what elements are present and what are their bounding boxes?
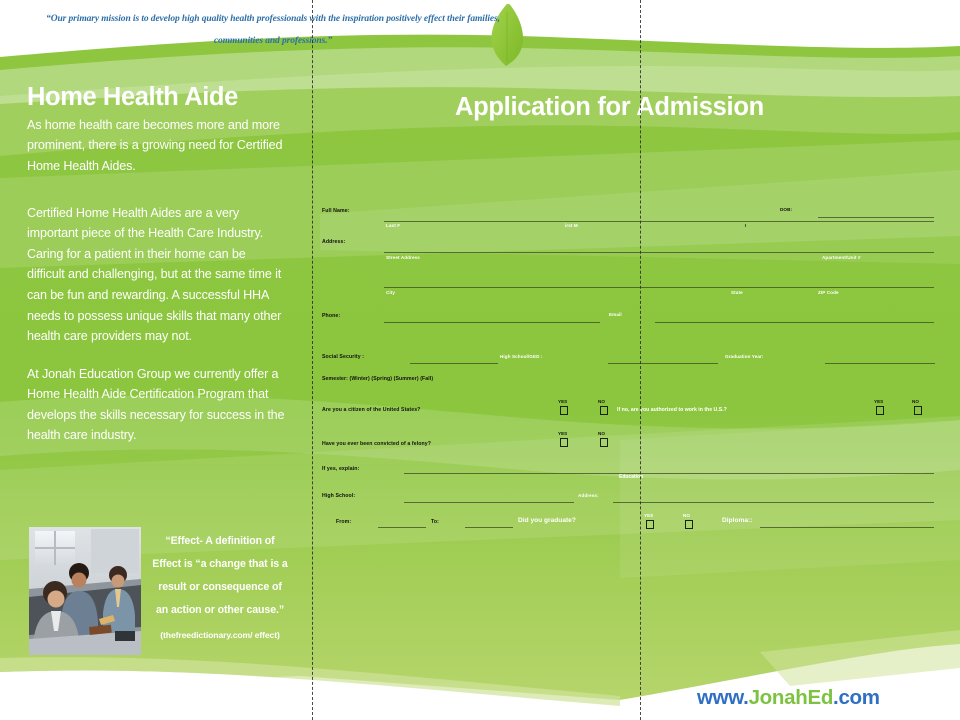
- label-phone: Phone:: [322, 313, 340, 319]
- input-graduation-year[interactable]: [825, 363, 935, 364]
- label-from: From:: [336, 519, 351, 525]
- sublabel-city: City: [386, 290, 395, 295]
- label-email: Email: [609, 312, 622, 317]
- work-auth-no-label: NO: [912, 399, 919, 404]
- label-if-yes-explain: If yes, explain:: [322, 466, 359, 472]
- input-phone[interactable]: [384, 322, 600, 323]
- checkbox-work-auth-yes[interactable]: [876, 406, 884, 415]
- label-diploma: Diploma::: [722, 517, 752, 524]
- label-semester: Semester: (Winter) (Spring) (Summer) (Fa…: [322, 376, 433, 382]
- input-full-name-last[interactable]: [384, 221, 934, 222]
- sublabel-first: irst M: [565, 223, 578, 228]
- website-url[interactable]: www.JonahEd.com: [697, 686, 880, 710]
- application-form: Full Name: Last F irst M I DOB: Address:…: [0, 0, 960, 720]
- question-felony: Have you ever been convicted of a felony…: [322, 441, 431, 447]
- input-high-school-ged[interactable]: [608, 363, 718, 364]
- input-dob[interactable]: [818, 217, 934, 218]
- input-high-school[interactable]: [404, 502, 574, 503]
- work-auth-yes-label: YES: [874, 399, 883, 404]
- citizenship-no-label: NO: [598, 399, 605, 404]
- question-did-you-graduate: Did you graduate?: [518, 517, 576, 524]
- label-high-school-ged: High School/GED :: [500, 354, 543, 359]
- input-to-date[interactable]: [465, 527, 513, 528]
- sublabel-zip-code: ZIP Code: [818, 290, 839, 295]
- citizenship-yes-label: YES: [558, 399, 567, 404]
- label-address: Address:: [322, 239, 345, 245]
- label-dob: DOB:: [780, 207, 792, 212]
- sublabel-street-address: Street Address: [386, 255, 420, 260]
- checkbox-citizenship-yes[interactable]: [560, 406, 568, 415]
- url-prefix: www.: [697, 686, 749, 709]
- checkbox-felony-no[interactable]: [600, 438, 608, 447]
- checkbox-felony-yes[interactable]: [560, 438, 568, 447]
- label-graduation-year: Graduation Year:: [725, 354, 764, 359]
- input-social-security[interactable]: [410, 363, 498, 364]
- input-city[interactable]: [384, 287, 934, 288]
- checkbox-citizenship-no[interactable]: [600, 406, 608, 415]
- sublabel-state: State: [731, 290, 743, 295]
- checkbox-graduate-yes[interactable]: [646, 520, 654, 529]
- sublabel-last: Last F: [386, 223, 400, 228]
- sublabel-apartment-unit: Apartment/Unit #: [822, 255, 861, 260]
- label-high-school: High School:: [322, 493, 355, 499]
- label-full-name: Full Name:: [322, 208, 350, 214]
- label-school-address: Address:: [578, 493, 599, 498]
- label-social-security: Social Security :: [322, 354, 364, 360]
- graduate-yes-label: YES: [644, 513, 653, 518]
- fold-line-left: [312, 0, 313, 720]
- question-work-authorization: If no, are you authorized to work in the…: [617, 407, 727, 413]
- input-diploma[interactable]: [760, 527, 934, 528]
- input-from-date[interactable]: [378, 527, 426, 528]
- input-street-address[interactable]: [384, 252, 934, 253]
- graduate-no-label: NO: [683, 513, 690, 518]
- url-suffix: .com: [833, 686, 880, 709]
- felony-yes-label: YES: [558, 431, 567, 436]
- url-name: JonahEd: [749, 686, 833, 709]
- question-citizenship: Are you a citizen of the United States?: [322, 407, 420, 413]
- checkbox-graduate-no[interactable]: [685, 520, 693, 529]
- label-to: To:: [431, 519, 439, 525]
- fold-line-right: [640, 0, 641, 720]
- brochure-page: “Our primary mission is to develop high …: [0, 0, 960, 720]
- input-school-address[interactable]: [613, 502, 934, 503]
- checkbox-work-auth-no[interactable]: [914, 406, 922, 415]
- input-felony-explain[interactable]: [404, 473, 934, 474]
- felony-no-label: NO: [598, 431, 605, 436]
- input-email[interactable]: [655, 322, 934, 323]
- sublabel-middle-initial: I: [745, 223, 746, 228]
